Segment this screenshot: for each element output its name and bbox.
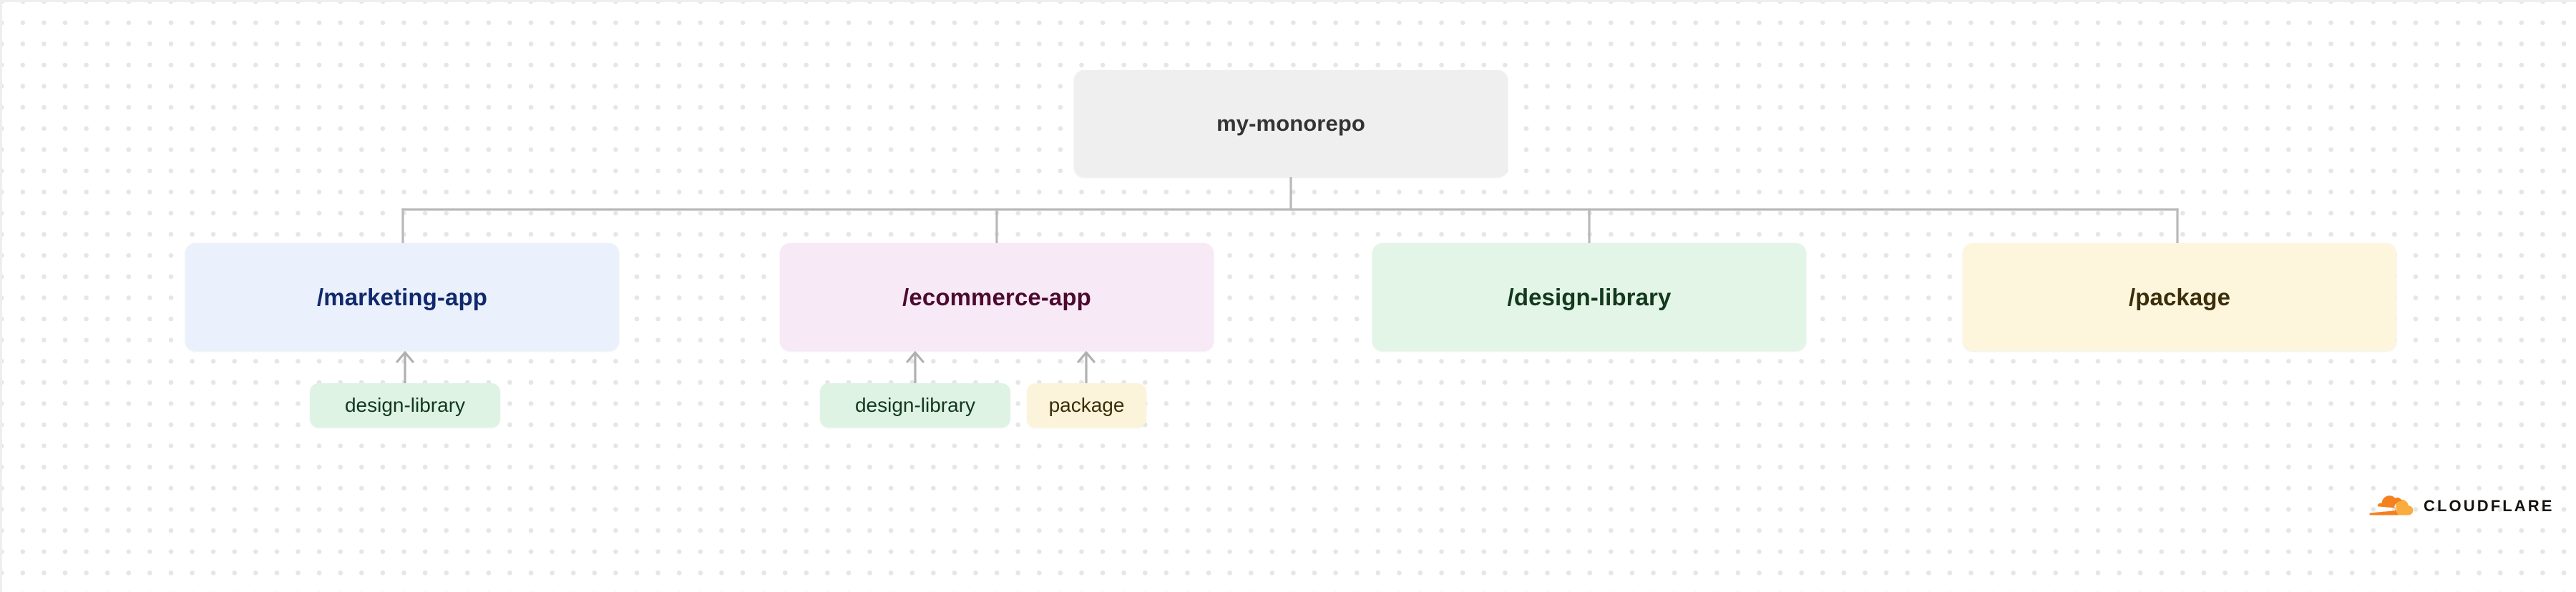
node-label-package: /package <box>2129 284 2230 311</box>
cloudflare-cloud-icon <box>2367 493 2414 519</box>
node-design-library[interactable]: /design-library <box>1372 243 1806 351</box>
cloudflare-logo: CLOUDFLARE <box>2367 493 2555 519</box>
dependency-badge-ecommerce-design-library[interactable]: design-library <box>820 383 1010 428</box>
node-label-design-library: /design-library <box>1508 284 1672 311</box>
arrowhead-ecommerce-package <box>1078 352 1094 362</box>
node-label-root: my-monorepo <box>1216 111 1365 137</box>
dependency-badge-ecommerce-package[interactable]: package <box>1027 383 1146 428</box>
diagram-canvas: my-monorepo /marketing-app /ecommerce-ap… <box>0 0 2576 592</box>
node-marketing-app[interactable]: /marketing-app <box>185 243 619 351</box>
node-label-ecommerce-app: /ecommerce-app <box>902 284 1091 311</box>
node-my-monorepo[interactable]: my-monorepo <box>1074 70 1508 177</box>
node-label-marketing-app: /marketing-app <box>317 284 487 311</box>
node-package[interactable]: /package <box>1963 243 2396 351</box>
dependency-badge-marketing-design-library[interactable]: design-library <box>310 383 500 428</box>
node-ecommerce-app[interactable]: /ecommerce-app <box>780 243 1214 351</box>
cloudflare-wordmark: CLOUDFLARE <box>2424 498 2555 514</box>
arrowhead-marketing <box>397 352 413 362</box>
arrowhead-ecommerce-design <box>907 352 923 362</box>
